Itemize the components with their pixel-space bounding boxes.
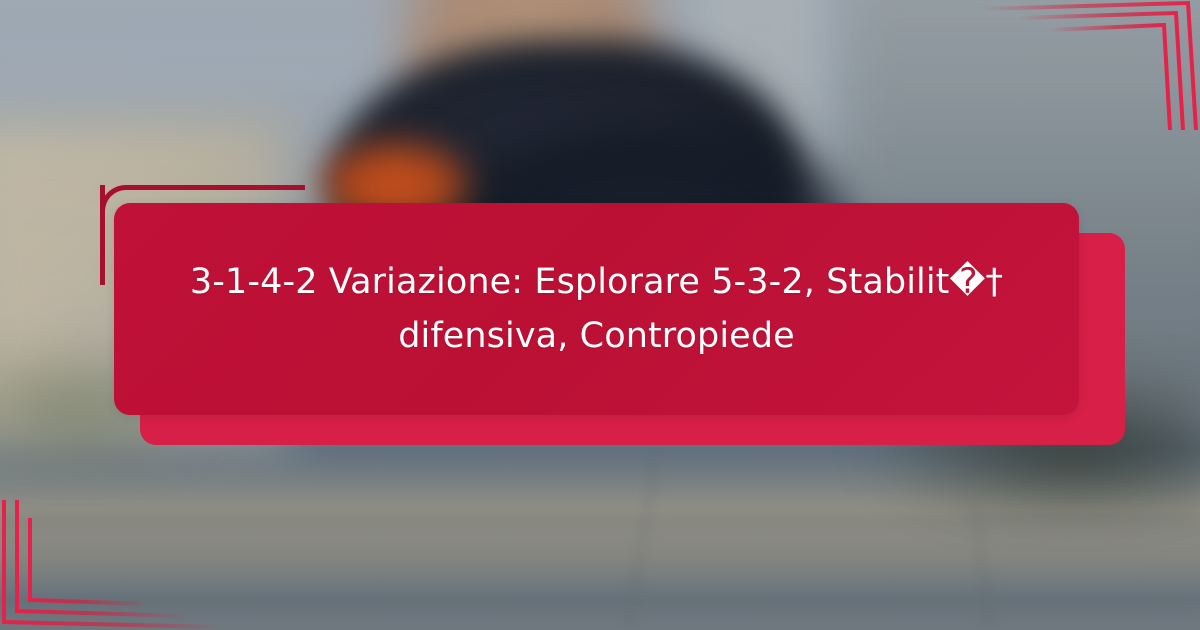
page-title: 3-1-4-2 Variazione: Esplorare 5-3-2, Sta… [114,255,1079,364]
share-card-canvas: 3-1-4-2 Variazione: Esplorare 5-3-2, Sta… [0,0,1200,630]
title-card-stack: 3-1-4-2 Variazione: Esplorare 5-3-2, Sta… [100,185,1100,445]
card-main-panel: 3-1-4-2 Variazione: Esplorare 5-3-2, Sta… [114,203,1079,415]
